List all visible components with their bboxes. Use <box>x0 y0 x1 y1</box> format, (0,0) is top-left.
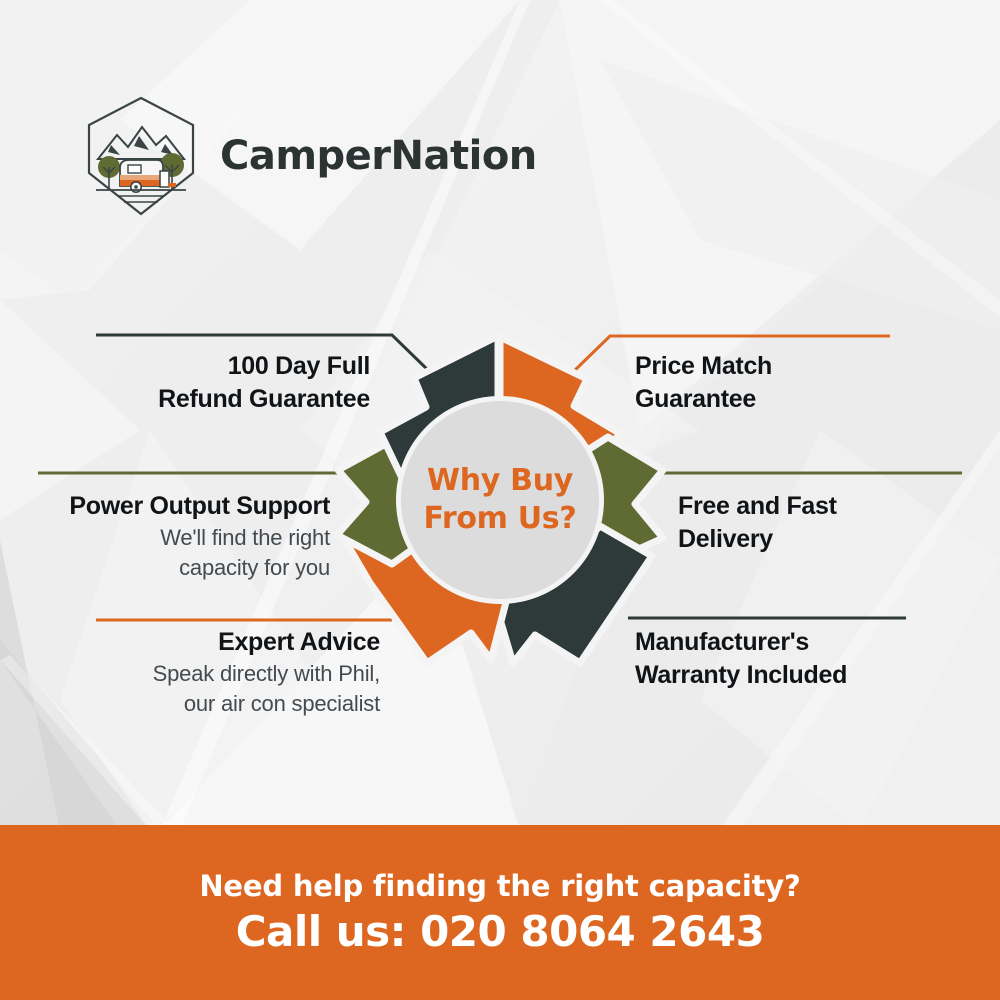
benefit-label-price-match: Price Match Guarantee <box>635 350 955 417</box>
benefit-label-power-output: Power Output Support We'll find the righ… <box>10 490 330 583</box>
benefit-subtitle-line-2: capacity for you <box>10 553 330 583</box>
benefit-title-line-2: Warranty Included <box>635 659 975 692</box>
benefit-title: Expert Advice <box>50 626 380 659</box>
footer-prompt: Need help finding the right capacity? <box>199 869 800 903</box>
benefit-subtitle-line-1: Speak directly with Phil, <box>50 659 380 689</box>
benefit-title-line-1: Free and Fast <box>678 490 978 523</box>
contact-footer-bar: Need help finding the right capacity? Ca… <box>0 825 1000 1000</box>
benefit-title-line-1: Price Match <box>635 350 955 383</box>
benefit-title-line-2: Refund Guarantee <box>40 383 370 416</box>
benefit-title-line-1: Manufacturer's <box>635 626 975 659</box>
benefit-label-delivery: Free and Fast Delivery <box>678 490 978 557</box>
benefit-label-warranty: Manufacturer's Warranty Included <box>635 626 975 693</box>
benefit-title: Power Output Support <box>10 490 330 523</box>
benefit-subtitle-line-1: We'll find the right <box>10 523 330 553</box>
benefit-subtitle-line-2: our air con specialist <box>50 689 380 719</box>
donut-center-hub <box>401 401 599 599</box>
infographic-canvas: CamperNation <box>0 0 1000 1000</box>
benefit-label-refund: 100 Day Full Refund Guarantee <box>40 350 370 417</box>
footer-call-to-action[interactable]: Call us: 020 8064 2643 <box>236 907 765 956</box>
why-buy-from-us-donut-chart <box>330 330 670 670</box>
benefit-title-line-1: 100 Day Full <box>40 350 370 383</box>
benefit-title-line-2: Delivery <box>678 523 978 556</box>
benefit-label-expert-advice: Expert Advice Speak directly with Phil, … <box>50 626 380 719</box>
benefit-title-line-2: Guarantee <box>635 383 955 416</box>
